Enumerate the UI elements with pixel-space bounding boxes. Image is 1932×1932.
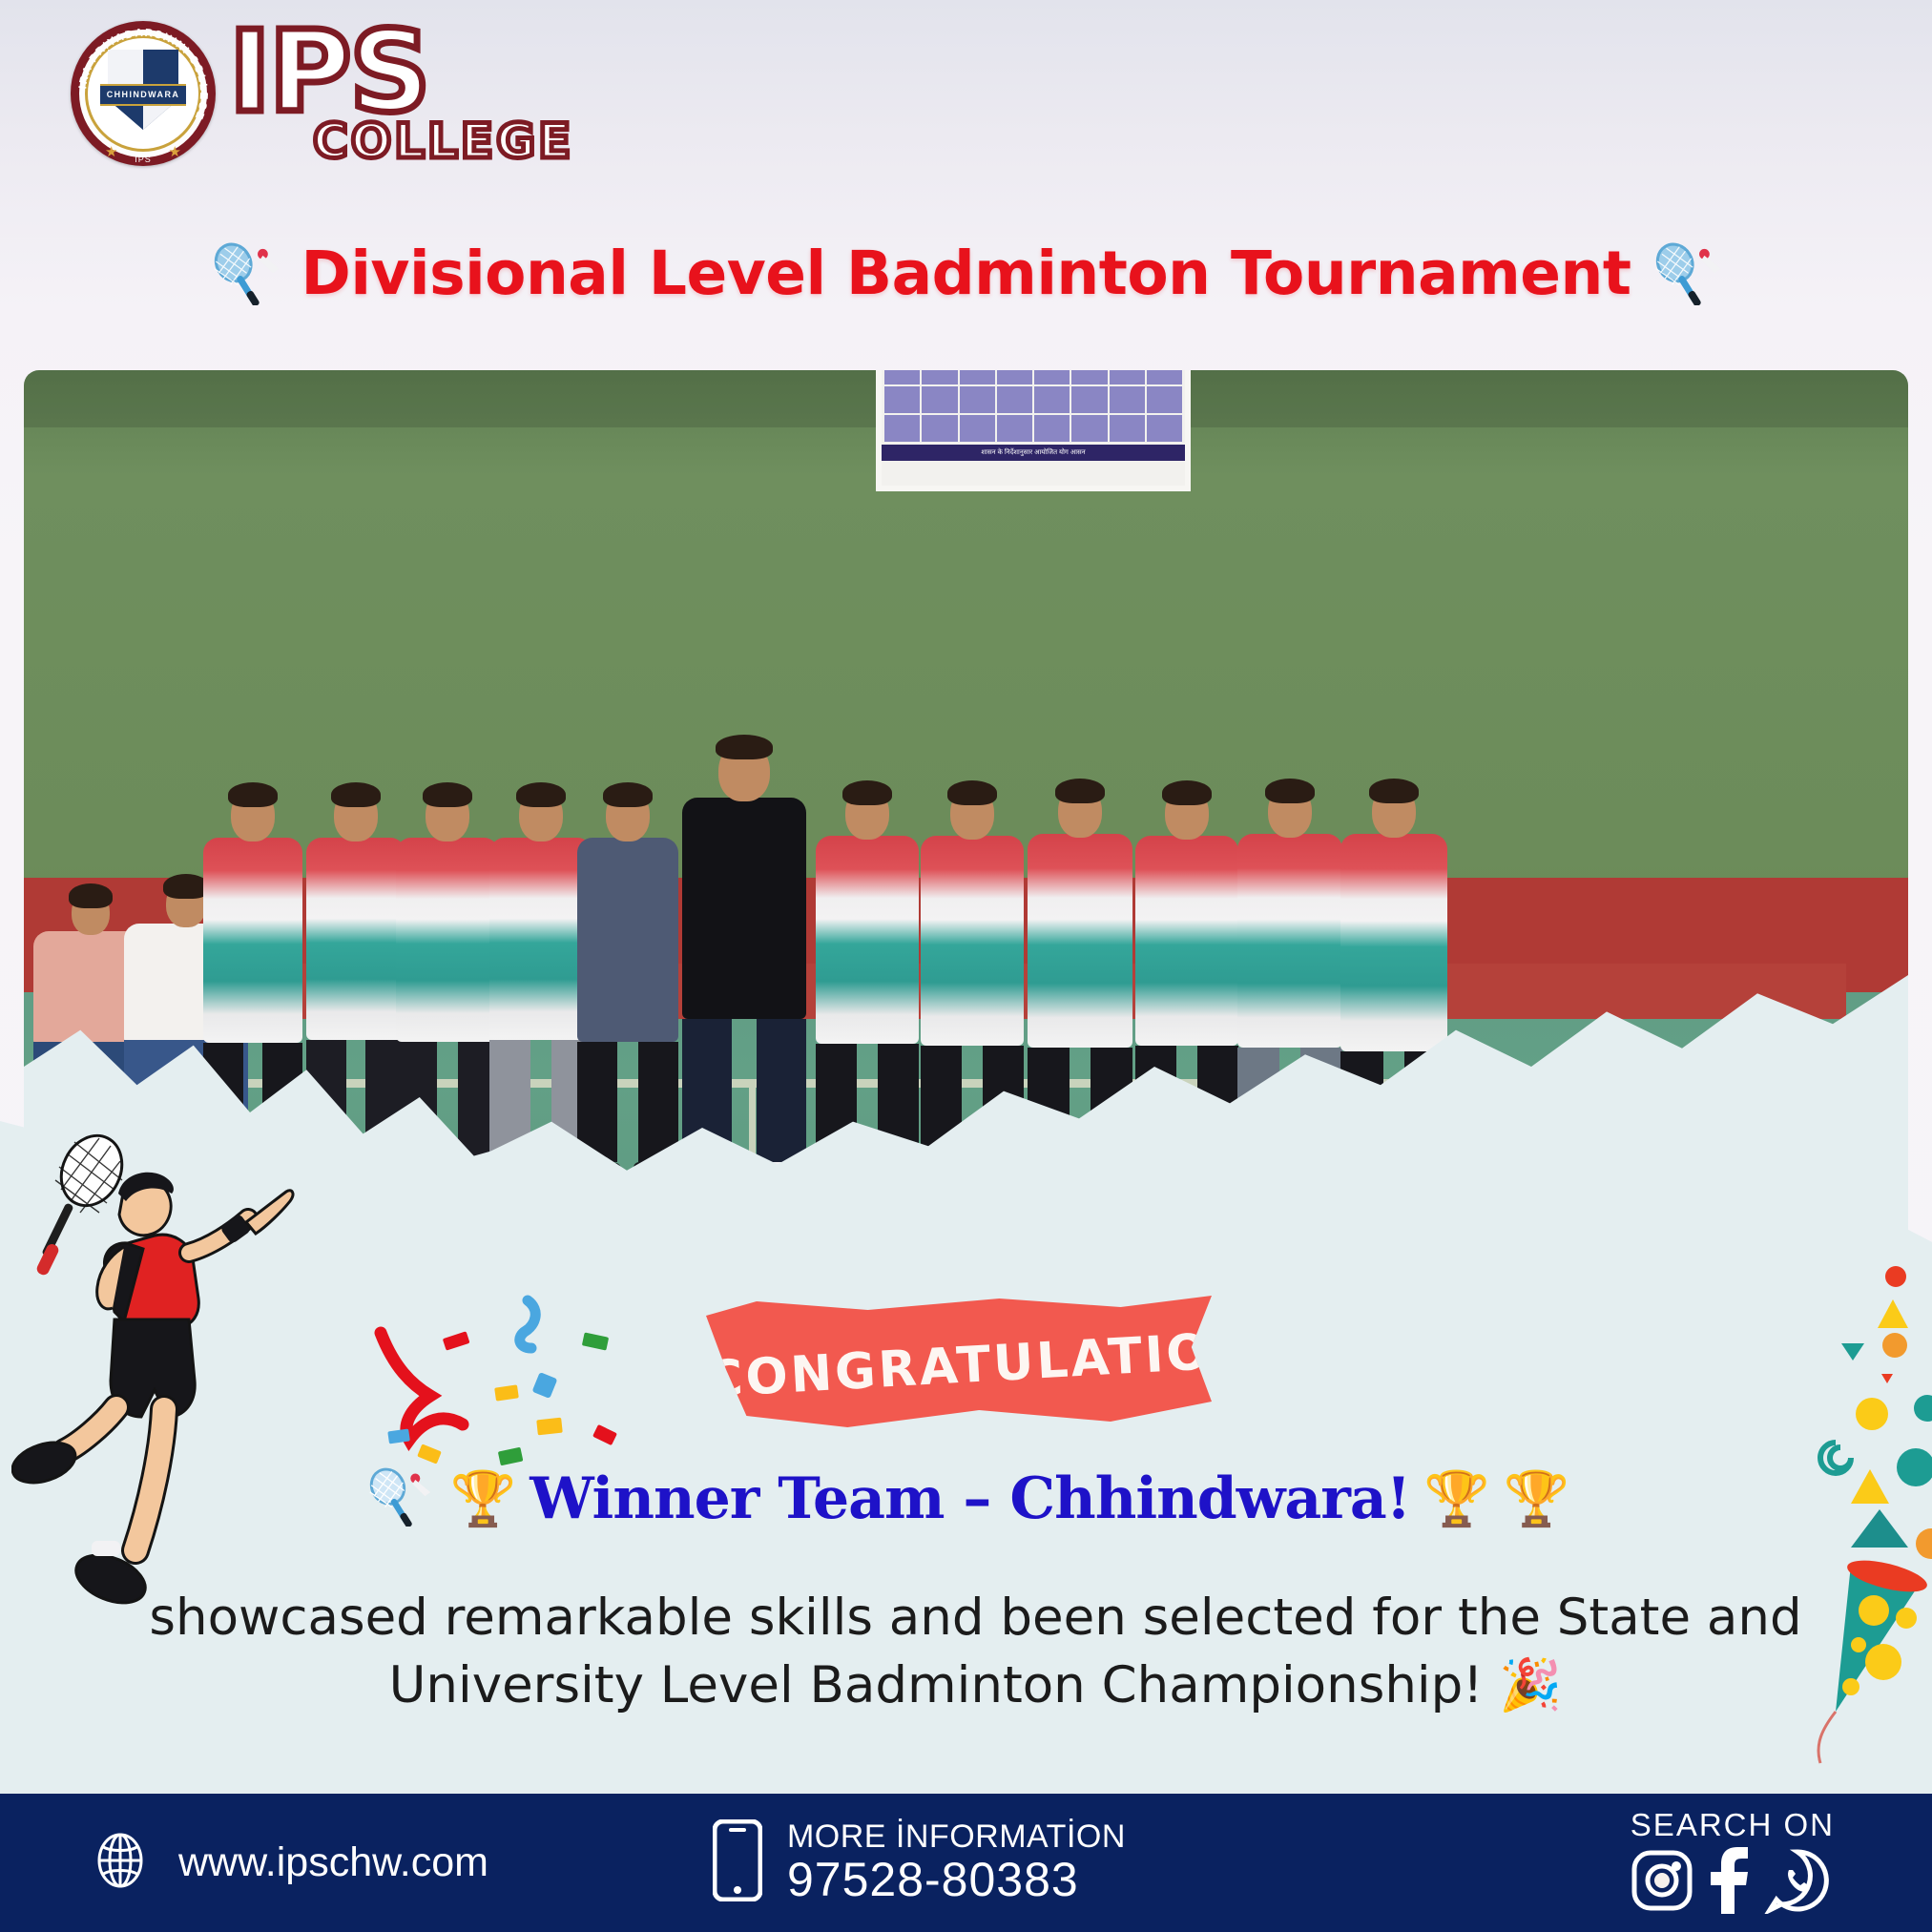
badminton-racket-icon [1650, 242, 1724, 305]
winner-team-text: Winner Team – Chhindwara! [530, 1465, 1410, 1532]
footer-bar: www.ipschw.com MORE İNFORMATİON 97528-80… [0, 1794, 1932, 1932]
celebration-body-line-2: University Level Badminton Championship! [389, 1656, 1484, 1714]
trophy-icon: 🏆 [1423, 1472, 1490, 1526]
badminton-player-illustration [11, 1131, 307, 1627]
facebook-icon[interactable] [1709, 1847, 1749, 1919]
globe-icon [91, 1831, 150, 1895]
team-coach [682, 740, 806, 1183]
trophy-icon: 🏆 [1504, 1472, 1570, 1526]
social-group: SEARCH ON [1631, 1807, 1835, 1919]
team-member [577, 788, 678, 1183]
badminton-racket-icon [208, 242, 282, 305]
mobile-phone-icon [713, 1819, 762, 1906]
congratulations-text: CONGRATULATIONS [705, 1323, 1214, 1408]
team-photo: शास. पेंच व्हेली पी.जी. कॉलेज, परासिया क… [24, 370, 1908, 1248]
website-group[interactable]: www.ipschw.com [91, 1831, 488, 1895]
college-logo: INDIRA PRIYADARSHINI COLLEGE CHHINDWARA … [71, 21, 573, 166]
wordmark: IPS COLLEGE [229, 26, 573, 161]
more-information-label: MORE İNFORMATİON [787, 1820, 1126, 1855]
party-popper-icon: 🎉 [1499, 1656, 1562, 1714]
wordmark-sub: COLLEGE [313, 122, 573, 161]
search-on-label: SEARCH ON [1631, 1807, 1835, 1843]
celebration-body: showcased remarkable skills and been sel… [143, 1584, 1808, 1719]
contact-group[interactable]: MORE İNFORMATİON 97528-80383 [713, 1819, 1126, 1906]
phone-number[interactable]: 97528-80383 [787, 1855, 1126, 1905]
website-url[interactable]: www.ipschw.com [178, 1839, 488, 1886]
crest-bottom-label: IPS [71, 155, 216, 164]
badminton-racket-icon [362, 1467, 436, 1530]
whatsapp-icon[interactable] [1764, 1847, 1831, 1919]
poster-canvas: INDIRA PRIYADARSHINI COLLEGE CHHINDWARA … [0, 0, 1932, 1932]
crest-band-label: CHHINDWARA [100, 84, 186, 106]
instagram-icon[interactable] [1631, 1849, 1693, 1917]
trophy-icon: 🏆 [449, 1472, 516, 1526]
page-title: Divisional Level Badminton Tournament [0, 239, 1932, 308]
page-title-text: Divisional Level Badminton Tournament [301, 239, 1631, 308]
college-crest-icon: INDIRA PRIYADARSHINI COLLEGE CHHINDWARA … [71, 21, 216, 166]
celebration-body-line-1: showcased remarkable skills and been sel… [149, 1589, 1801, 1647]
crest-year: 2001 [71, 135, 216, 149]
wall-poster: शास. पेंच व्हेली पी.जी. कॉलेज, परासिया क… [876, 370, 1191, 491]
wordmark-main: IPS [229, 26, 573, 118]
wall-poster-footer: शासन के निर्देशानुसार आयोजित योग आसन [882, 445, 1185, 461]
team-member [816, 786, 919, 1183]
